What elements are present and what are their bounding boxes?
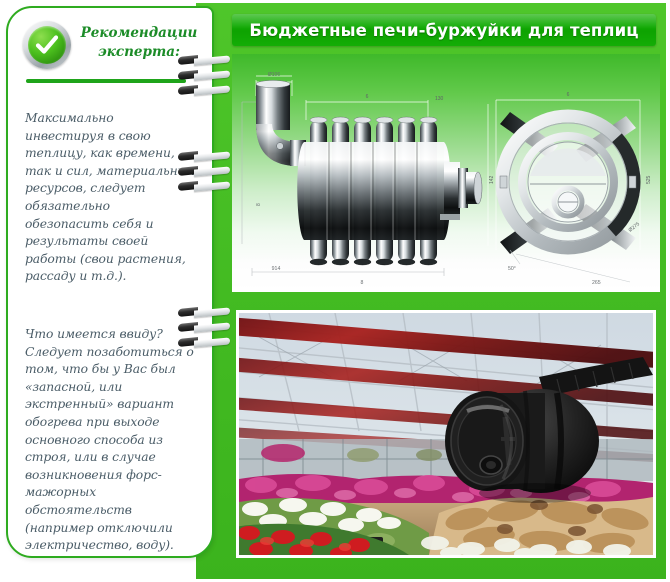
dim-label-diameter: Ø275 [628,221,642,233]
dim-label-914: 914 [272,266,281,272]
dim-label-265: 265 [592,280,601,286]
technical-drawing-panel: Ø106 8 6 130 [232,54,660,292]
header-banner: Бюджетные печи-буржуйки для теплиц [232,14,656,46]
infographic-page: Бюджетные печи-буржуйки для теплиц [0,0,670,582]
heat-exchanger-fins [297,117,451,265]
dim-label-bottom: 8 [361,280,364,286]
recommendation-paragraph-1: Максимально инвестируя в свою теплицу, к… [25,110,195,286]
spiral-ring [178,308,230,316]
title-divider [26,79,186,83]
greenhouse-photo-svg [239,313,653,555]
spiral-ring [178,86,230,94]
drawing-front-view: 6 142 525 [488,92,652,286]
greenhouse-photo [236,310,656,558]
dim-label-front-top: 6 [567,92,570,98]
exhaust-stub [440,162,482,220]
drawing-side-view: Ø106 8 6 130 [242,72,482,286]
spiral-ring [178,152,230,160]
dim-label-front-right: 525 [646,175,652,184]
dim-label-right: 130 [435,96,444,102]
spiral-ring [178,338,230,346]
page-title: Бюджетные печи-буржуйки для теплиц [249,21,638,40]
technical-drawing-svg: Ø106 8 6 130 [232,54,660,292]
spiral-ring-group-2 [178,152,234,197]
dim-label-chimney: Ø106 [268,72,280,78]
spiral-ring [178,167,230,175]
dim-label-width: 6 [366,94,369,100]
spiral-ring [178,56,230,64]
spiral-ring [178,182,230,190]
spiral-ring-group-1 [178,56,234,101]
spiral-ring [178,323,230,331]
dim-label-angle: 50° [508,266,516,272]
dim-label-height: 8 [256,203,262,206]
recommendation-paragraph-2: Что имеется ввиду? Следует позаботиться … [25,326,195,555]
spiral-ring [178,71,230,79]
dim-label-front-left: 142 [489,175,495,184]
green-check-badge-icon [23,21,71,69]
spiral-ring-group-3 [178,308,234,353]
